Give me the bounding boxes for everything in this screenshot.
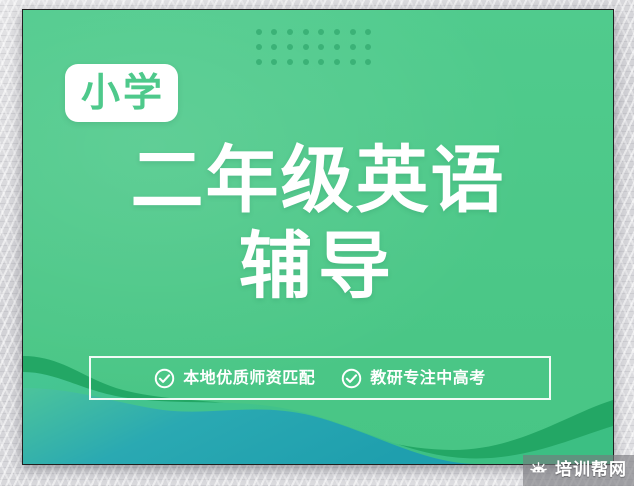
grid-dot [287, 59, 293, 65]
grid-dot [365, 44, 371, 50]
grid-dot [318, 44, 324, 50]
poster-inner: 小学 二年级英语 辅导 本地优质师资匹配 教研专注中高考 [23, 10, 613, 464]
grid-dot [303, 44, 309, 50]
level-badge-label: 小学 [78, 74, 165, 113]
feature-item: 本地优质师资匹配 [154, 368, 315, 389]
feature-item: 教研专注中高考 [341, 368, 486, 389]
grid-dot [256, 29, 262, 35]
grid-dot [318, 29, 324, 35]
headline-line-primary: 二年级英语 [23, 138, 613, 224]
grid-dot [287, 29, 293, 35]
grid-dot [318, 59, 324, 65]
poster-card: 小学 二年级英语 辅导 本地优质师资匹配 教研专注中高考 [22, 9, 614, 465]
check-circle-icon [341, 368, 362, 389]
grid-dot [303, 29, 309, 35]
grid-dot [256, 44, 262, 50]
grid-dot [350, 29, 356, 35]
level-badge: 小学 [65, 64, 178, 122]
grid-dot [350, 44, 356, 50]
grid-dot [287, 44, 293, 50]
watermark-label: 培训帮网 [555, 462, 627, 479]
grid-dot [271, 59, 277, 65]
grid-dot [334, 59, 340, 65]
grid-dot [334, 44, 340, 50]
grid-dot [271, 29, 277, 35]
grid-dot [256, 59, 262, 65]
watermark: 培训帮网 [523, 455, 634, 486]
grid-dot [303, 59, 309, 65]
feature-label: 教研专注中高考 [370, 370, 486, 386]
sun-face-icon [529, 461, 548, 480]
dot-grid-decoration [251, 25, 376, 69]
feature-label: 本地优质师资匹配 [183, 370, 315, 386]
feature-list: 本地优质师资匹配 教研专注中高考 [89, 356, 551, 400]
poster-headline: 二年级英语 辅导 [23, 138, 613, 310]
grid-dot [350, 59, 356, 65]
grid-dot [365, 29, 371, 35]
check-circle-icon [154, 368, 175, 389]
grid-dot [365, 59, 371, 65]
grid-dot [334, 29, 340, 35]
grid-dot [271, 44, 277, 50]
headline-line-secondary: 辅导 [23, 224, 613, 310]
